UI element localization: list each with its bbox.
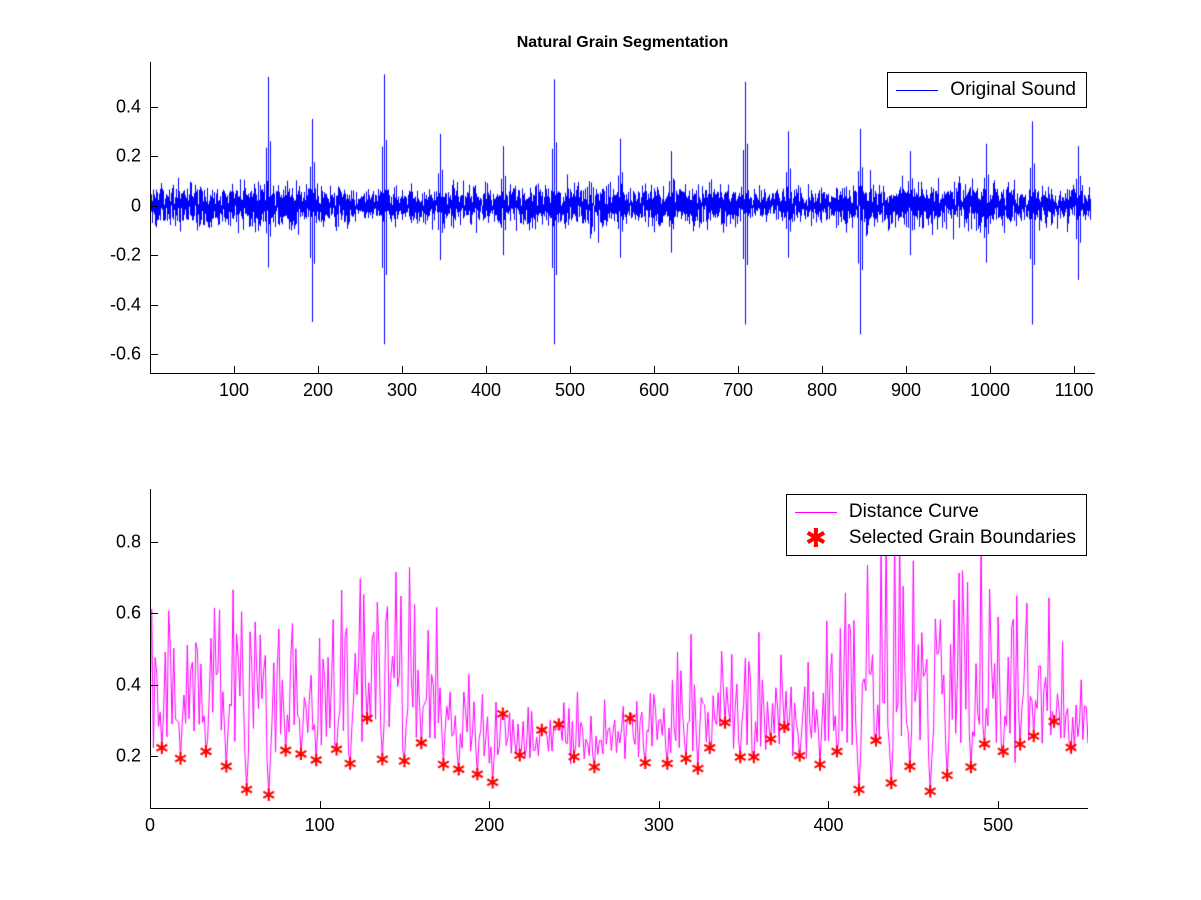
y-tick-mark [151, 613, 158, 614]
y-tick-mark [151, 156, 158, 157]
x-tick-label: 800 [807, 380, 837, 401]
x-tick-mark [906, 366, 907, 373]
x-tick-mark [234, 366, 235, 373]
y-tick-mark [151, 354, 158, 355]
legend-line-swatch-blue [894, 79, 940, 101]
x-tick-label: 300 [644, 815, 674, 836]
legend-original-sound: Original Sound [887, 72, 1087, 108]
legend-label-distance-curve: Distance Curve [849, 501, 979, 523]
x-tick-label: 700 [723, 380, 753, 401]
y-tick-label: 0 [131, 195, 141, 216]
x-tick-label: 900 [891, 380, 921, 401]
axes-original-sound: Natural Grain Segmentation -0.6-0.4-0.20… [150, 62, 1095, 374]
page-title: Natural Grain Segmentation [150, 34, 1095, 52]
legend-distance-curve: Distance Curve ✱ Selected Grain Boundari… [786, 494, 1087, 556]
y-tick-label: -0.2 [110, 245, 141, 266]
y-tick-mark [151, 756, 158, 757]
y-tick-mark [151, 206, 158, 207]
legend-item-grain-boundaries: ✱ Selected Grain Boundaries [793, 525, 1076, 551]
x-tick-mark [990, 366, 991, 373]
y-tick-mark [151, 542, 158, 543]
legend-label-original-sound: Original Sound [950, 79, 1076, 101]
x-tick-label: 100 [219, 380, 249, 401]
y-tick-mark [151, 107, 158, 108]
x-tick-label: 500 [555, 380, 585, 401]
x-tick-label: 1100 [1055, 380, 1094, 401]
x-tick-mark [1074, 366, 1075, 373]
axes-distance-curve: 0.20.40.60.80100200300400500 Distance Cu… [150, 489, 1088, 809]
x-tick-mark [570, 366, 571, 373]
x-tick-mark [654, 366, 655, 373]
x-tick-label: 200 [303, 380, 333, 401]
x-tick-mark [998, 801, 999, 808]
x-axis-line-top [150, 373, 1095, 374]
x-tick-label: 100 [305, 815, 335, 836]
x-tick-label: 400 [813, 815, 843, 836]
y-tick-mark [151, 255, 158, 256]
x-tick-label: 200 [474, 815, 504, 836]
legend-item-original-sound: Original Sound [894, 77, 1076, 103]
x-tick-label: 0 [145, 815, 155, 836]
y-axis-line-bottom [150, 489, 151, 809]
x-tick-mark [659, 801, 660, 808]
x-tick-label: 300 [387, 380, 417, 401]
y-tick-mark [151, 685, 158, 686]
x-tick-mark [318, 366, 319, 373]
legend-item-distance-curve: Distance Curve [793, 499, 1076, 525]
y-tick-label: 0.6 [116, 603, 141, 624]
y-tick-mark [151, 305, 158, 306]
x-tick-label: 500 [983, 815, 1013, 836]
signal-plot-canvas [150, 62, 1095, 374]
x-tick-mark [822, 366, 823, 373]
x-tick-mark [150, 801, 151, 808]
x-tick-mark [486, 366, 487, 373]
y-tick-label: 0.4 [116, 96, 141, 117]
matlab-figure-window: Natural Grain Segmentation -0.6-0.4-0.20… [0, 0, 1201, 900]
y-tick-label: 0.4 [116, 674, 141, 695]
y-tick-label: -0.4 [110, 294, 141, 315]
x-tick-mark [738, 366, 739, 373]
x-tick-label: 1000 [970, 380, 1010, 401]
legend-asterisk-swatch-red: ✱ [793, 527, 839, 549]
y-tick-label: 0.8 [116, 532, 141, 553]
x-tick-label: 600 [639, 380, 669, 401]
y-tick-label: -0.6 [110, 344, 141, 365]
y-tick-label: 0.2 [116, 745, 141, 766]
x-axis-line-bottom [150, 808, 1088, 809]
x-tick-mark [320, 801, 321, 808]
y-axis-line-top [150, 62, 151, 374]
x-tick-label: 400 [471, 380, 501, 401]
x-tick-mark [828, 801, 829, 808]
x-tick-mark [489, 801, 490, 808]
x-tick-mark [402, 366, 403, 373]
legend-line-swatch-magenta [793, 501, 839, 523]
legend-label-grain-boundaries: Selected Grain Boundaries [849, 527, 1076, 549]
y-tick-label: 0.2 [116, 146, 141, 167]
